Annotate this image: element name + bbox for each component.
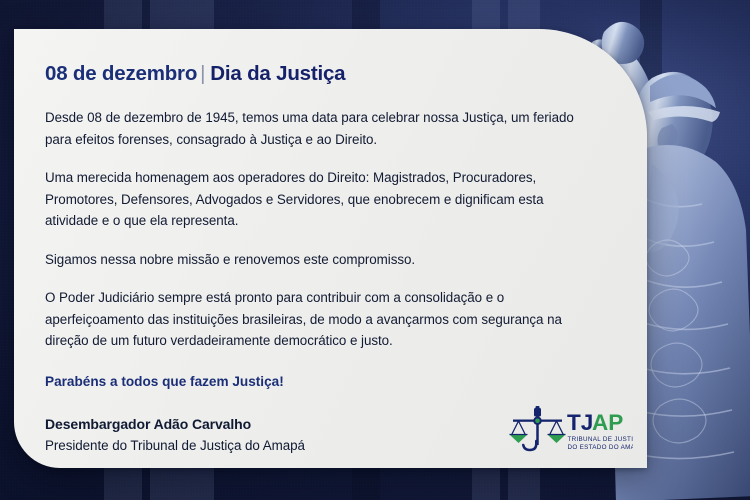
headline-date: 08 de dezembro [45, 62, 197, 85]
logo-subtitle-line2: DO ESTADO DO AMAPÁ [568, 442, 634, 451]
logo-acronym-primary: TJ [567, 410, 593, 435]
body-paragraph-1: Desde 08 de dezembro de 1945, temos uma … [45, 107, 575, 150]
page-title: 08 de dezembro|Dia da Justiça [45, 62, 607, 86]
body-paragraph-4: O Poder Judiciário sempre está pronto pa… [45, 287, 575, 352]
congratulations-message: Parabéns a todos que fazem Justiça! [45, 374, 607, 389]
logo-subtitle-line1: TRIBUNAL DE JUSTIÇA [568, 436, 634, 443]
body-paragraph-2: Uma merecida homenagem aos operadores do… [45, 167, 575, 232]
logo-acronym-secondary: AP [592, 410, 623, 435]
scales-of-justice-icon [510, 406, 566, 450]
body-paragraph-3: Sigamos nessa nobre missão e renovemos e… [45, 249, 575, 271]
announcement-card: 08 de dezembro|Dia da Justiça Desde 08 d… [14, 29, 647, 468]
headline-separator: | [197, 62, 210, 85]
headline-title: Dia da Justiça [210, 62, 345, 85]
tjap-logo: TJ AP TRIBUNAL DE JUSTIÇA DO ESTADO DO A… [508, 406, 633, 458]
